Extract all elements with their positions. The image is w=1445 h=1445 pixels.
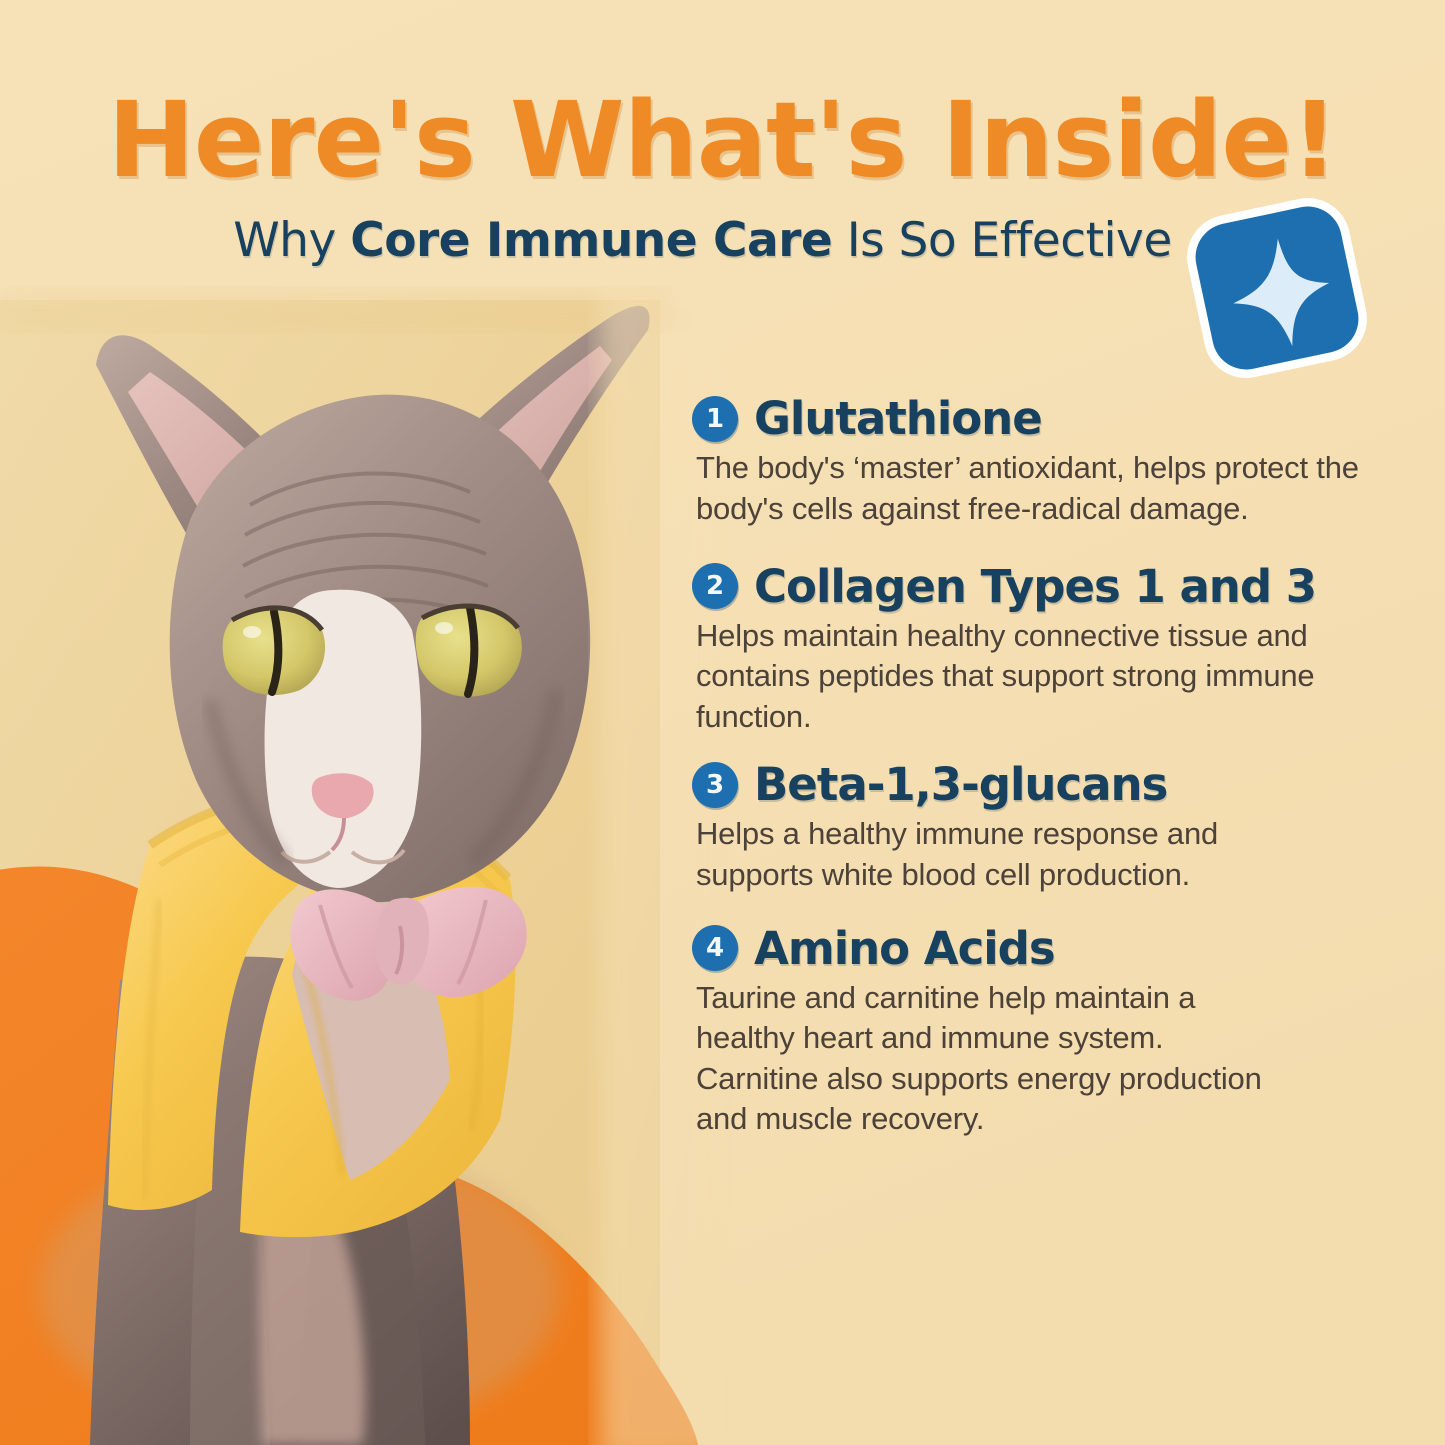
ingredient-number-badge: 2	[692, 563, 738, 609]
ingredient-heading: 4 Amino Acids	[692, 925, 1392, 972]
pink-bow	[290, 887, 526, 1001]
ingredient-title: Collagen Types 1 and 3	[754, 563, 1316, 610]
ingredient-number-badge: 3	[692, 762, 738, 808]
subtitle-brand: Core Immune Care	[350, 213, 832, 268]
list-item: 3 Beta-1,3-glucans Helps a healthy immun…	[692, 761, 1392, 895]
subtitle-suffix: Is So Effective	[832, 213, 1172, 268]
ingredient-number-badge: 4	[692, 925, 738, 971]
list-item: 4 Amino Acids Taurine and carnitine help…	[692, 925, 1392, 1139]
page-title: Here's What's Inside!	[0, 88, 1445, 192]
ingredient-description: Helps maintain healthy connective tissue…	[696, 616, 1336, 737]
ingredient-number-badge: 1	[692, 396, 738, 442]
ingredient-description: The body's ‘master’ antioxidant, helps p…	[696, 448, 1392, 529]
poster-canvas: Here's What's Inside! Why Core Immune Ca…	[0, 0, 1445, 1445]
sparkle-badge	[1187, 198, 1367, 378]
subtitle-prefix: Why	[233, 213, 350, 268]
ingredient-title: Glutathione	[754, 395, 1042, 442]
ingredients-list: 1 Glutathione The body's ‘master’ antiox…	[692, 395, 1392, 1139]
ingredient-heading: 3 Beta-1,3-glucans	[692, 761, 1392, 808]
ingredient-heading: 2 Collagen Types 1 and 3	[692, 563, 1392, 610]
sparkle-icon	[1187, 198, 1367, 378]
ingredient-heading: 1 Glutathione	[692, 395, 1392, 442]
ingredient-description: Helps a healthy immune response and supp…	[696, 814, 1296, 895]
ingredient-title: Amino Acids	[754, 925, 1055, 972]
ingredient-title: Beta-1,3-glucans	[754, 761, 1167, 808]
list-item: 2 Collagen Types 1 and 3 Helps maintain …	[692, 563, 1392, 737]
ingredient-description: Taurine and carnitine help maintain a he…	[696, 978, 1266, 1139]
list-item: 1 Glutathione The body's ‘master’ antiox…	[692, 395, 1392, 529]
